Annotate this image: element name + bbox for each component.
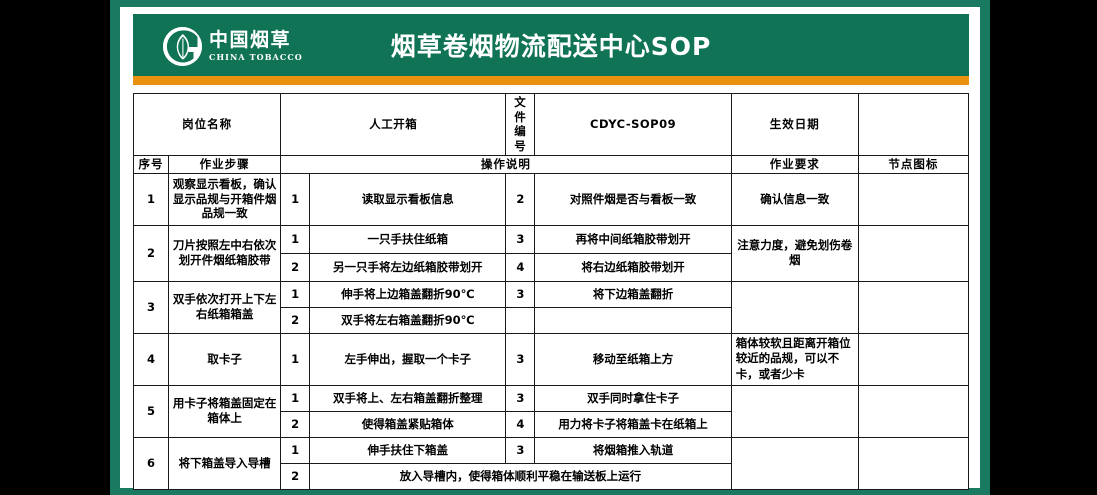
screenshot-root: 烟草卷烟物流配送中心SOP 中国烟草 CHINA TOBACCO	[0, 0, 1097, 495]
row-step: 取卡子	[169, 333, 281, 385]
photo-open-flaps	[858, 281, 968, 333]
tobacco-leaf-icon	[163, 27, 202, 66]
op-a-no: 1	[281, 281, 310, 307]
op-b-no: 3	[506, 281, 535, 307]
op-b-text: 用力将卡子将箱盖卡在纸箱上	[535, 411, 731, 437]
row-step: 观察显示看板，确认显示品规与开箱件烟品规一致	[169, 173, 281, 225]
op-a-text: 读取显示看板信息	[310, 173, 506, 225]
table-row: 4 取卡子 1 左手伸出，握取一个卡子 3 移动至纸箱上方 箱体较软且距离开箱位…	[134, 333, 969, 385]
photo-cutting-tape	[858, 225, 968, 281]
row-seq: 5	[134, 385, 169, 437]
row-requirement	[731, 385, 858, 437]
op-b-no: 4	[506, 411, 535, 437]
op-a-no: 2	[281, 463, 310, 489]
row-step: 用卡子将箱盖固定在箱体上	[169, 385, 281, 437]
op-a-text: 双手将上、左右箱盖翻折整理	[310, 385, 506, 411]
value-post: 人工开箱	[281, 94, 506, 156]
op-a-no: 2	[281, 307, 310, 333]
document-sheet: 烟草卷烟物流配送中心SOP 中国烟草 CHINA TOBACCO	[120, 7, 980, 488]
column-header-requirement: 作业要求	[731, 155, 858, 173]
column-header-seq: 序号	[134, 155, 169, 173]
op-a-text: 使得箱盖紧贴箱体	[310, 411, 506, 437]
row-requirement: 箱体较软且距离开箱位较近的品规，可以不卡，或者少卡	[731, 333, 858, 385]
document-frame: 烟草卷烟物流配送中心SOP 中国烟草 CHINA TOBACCO	[110, 0, 990, 495]
table-row: 1 观察显示看板，确认显示品规与开箱件烟品规一致 1 读取显示看板信息 2 对照…	[134, 173, 969, 225]
op-a-text: 放入导槽内，使得箱体顺利平稳在输送板上运行	[310, 463, 732, 489]
op-a-text: 伸手将上边箱盖翻折90℃	[310, 281, 506, 307]
op-b-no: 3	[506, 333, 535, 385]
row-requirement	[731, 437, 858, 489]
op-a-text: 双手将左右箱盖翻折90℃	[310, 307, 506, 333]
op-b-text: 将下边箱盖翻折	[535, 281, 731, 307]
row-step: 刀片按照左中右依次划开件烟纸箱胶带	[169, 225, 281, 281]
row-requirement: 注意力度，避免划伤卷烟	[731, 225, 858, 281]
header-banner: 烟草卷烟物流配送中心SOP 中国烟草 CHINA TOBACCO	[133, 14, 969, 76]
op-a-text: 一只手扶住纸箱	[310, 225, 506, 253]
row-step: 将下箱盖导入导槽	[169, 437, 281, 489]
sop-table: 岗位名称 人工开箱 文件编号 CDYC-SOP09 生效日期 序号 作业步骤 操…	[133, 93, 969, 490]
op-a-no: 1	[281, 225, 310, 253]
row-seq: 1	[134, 173, 169, 225]
op-b-text: 将烟箱推入轨道	[535, 437, 731, 463]
op-a-text: 左手伸出，握取一个卡子	[310, 333, 506, 385]
op-a-no: 1	[281, 385, 310, 411]
op-b-no: 2	[506, 173, 535, 225]
logo-english-name: CHINA TOBACCO	[209, 53, 303, 61]
logo-chinese-name: 中国烟草	[209, 31, 303, 50]
label-docno: 文件编号	[506, 94, 535, 156]
op-a-no: 1	[281, 437, 310, 463]
banner-accent-bar	[133, 76, 969, 85]
op-a-text: 另一只手将左边纸箱胶带划开	[310, 253, 506, 281]
column-header-photo: 节点图标	[858, 155, 968, 173]
row-seq: 2	[134, 225, 169, 281]
op-a-text: 伸手扶住下箱盖	[310, 437, 506, 463]
row-requirement: 确认信息一致	[731, 173, 858, 225]
value-date	[858, 94, 968, 156]
row-seq: 4	[134, 333, 169, 385]
op-b-text: 移动至纸箱上方	[535, 333, 731, 385]
op-b-no: 3	[506, 437, 535, 463]
column-header-row: 序号 作业步骤 操作说明 作业要求 节点图标	[134, 155, 969, 173]
op-b-no: 3	[506, 385, 535, 411]
china-tobacco-logo: 中国烟草 CHINA TOBACCO	[163, 24, 303, 68]
op-a-no: 2	[281, 253, 310, 281]
row-seq: 6	[134, 437, 169, 489]
op-b-text	[535, 307, 731, 333]
meta-row: 岗位名称 人工开箱 文件编号 CDYC-SOP09 生效日期	[134, 94, 969, 156]
column-header-step: 作业步骤	[169, 155, 281, 173]
label-post: 岗位名称	[134, 94, 281, 156]
row-seq: 3	[134, 281, 169, 333]
row-requirement	[731, 281, 858, 333]
op-b-text: 双手同时拿住卡子	[535, 385, 731, 411]
row-step: 双手依次打开上下左右纸箱箱盖	[169, 281, 281, 333]
photo-push-rail	[858, 437, 968, 489]
table-row: 5 用卡子将箱盖固定在箱体上 1 双手将上、左右箱盖翻折整理 3 双手同时拿住卡…	[134, 385, 969, 411]
table-row: 2 刀片按照左中右依次划开件烟纸箱胶带 1 一只手扶住纸箱 3 再将中间纸箱胶带…	[134, 225, 969, 253]
photo-take-clip	[858, 333, 968, 385]
op-b-no: 4	[506, 253, 535, 281]
photo-fix-clip	[858, 385, 968, 437]
op-a-no: 1	[281, 333, 310, 385]
op-b-text: 再将中间纸箱胶带划开	[535, 225, 731, 253]
op-b-text: 对照件烟是否与看板一致	[535, 173, 731, 225]
photo-display-board	[858, 173, 968, 225]
op-b-text: 将右边纸箱胶带划开	[535, 253, 731, 281]
value-docno: CDYC-SOP09	[535, 94, 731, 156]
op-b-no: 3	[506, 225, 535, 253]
logo-text-block: 中国烟草 CHINA TOBACCO	[209, 31, 303, 61]
table-row: 3 双手依次打开上下左右纸箱箱盖 1 伸手将上边箱盖翻折90℃ 3 将下边箱盖翻…	[134, 281, 969, 307]
op-b-no	[506, 307, 535, 333]
column-header-operation: 操作说明	[281, 155, 732, 173]
table-row: 6 将下箱盖导入导槽 1 伸手扶住下箱盖 3 将烟箱推入轨道	[134, 437, 969, 463]
op-a-no: 1	[281, 173, 310, 225]
label-date: 生效日期	[731, 94, 858, 156]
op-a-no: 2	[281, 411, 310, 437]
